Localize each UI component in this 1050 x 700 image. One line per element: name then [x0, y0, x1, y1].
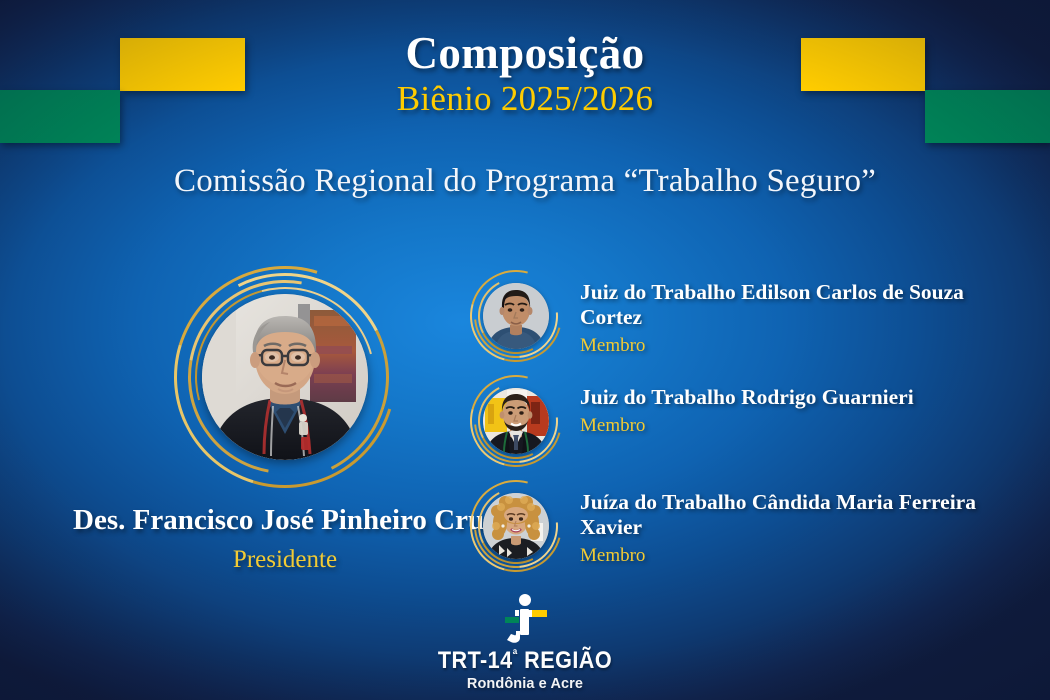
list-item: Juíza do Trabalho Cândida Maria Ferreira…: [470, 478, 1030, 583]
member-photo: [483, 283, 549, 349]
member-photo: [483, 493, 549, 559]
member-name: Juíza do Trabalho Cândida Maria Ferreira…: [580, 490, 1030, 540]
jt-running-figure-icon: [482, 593, 568, 645]
list-item: Juiz do Trabalho Rodrigo Guarnieri Membr…: [470, 373, 1030, 478]
president-name: Des. Francisco José Pinheiro Cruz: [70, 504, 500, 537]
president-avatar: [176, 268, 394, 486]
member-avatar: [470, 270, 562, 362]
page-subtitle: Biênio 2025/2026: [0, 79, 1050, 119]
logo-title: TRT-14ª REGIÃO: [53, 646, 998, 675]
member-name: Juiz do Trabalho Edilson Carlos de Souza…: [580, 280, 1030, 330]
member-text: Juiz do Trabalho Rodrigo Guarnieri Membr…: [562, 373, 914, 437]
list-item: Juiz do Trabalho Edilson Carlos de Souza…: [470, 268, 1030, 373]
member-text: Juíza do Trabalho Cândida Maria Ferreira…: [562, 478, 1030, 567]
header: Composição Biênio 2025/2026: [0, 30, 1050, 120]
member-role: Membro: [580, 545, 1030, 567]
composition-card: Composição Biênio 2025/2026 Comissão Reg…: [0, 0, 1050, 700]
program-name: Comissão Regional do Programa “Trabalho …: [0, 163, 1050, 200]
member-avatar: [470, 480, 562, 572]
logo-title-main: TRT-14: [438, 647, 513, 674]
member-role: Membro: [580, 415, 914, 437]
logo-title-tail: REGIÃO: [518, 647, 612, 674]
president-photo: [202, 294, 368, 460]
president-block: Des. Francisco José Pinheiro Cruz Presid…: [70, 268, 500, 574]
president-role: Presidente: [70, 546, 500, 574]
member-name: Juiz do Trabalho Rodrigo Guarnieri: [580, 385, 914, 410]
member-photo: [483, 388, 549, 454]
logo-subtitle: Rondônia e Acre: [0, 676, 1050, 692]
trt-logo: TRT-14ª REGIÃO Rondônia e Acre: [0, 593, 1050, 692]
members-list: Juiz do Trabalho Edilson Carlos de Souza…: [470, 268, 1030, 583]
member-avatar: [470, 375, 562, 467]
member-text: Juiz do Trabalho Edilson Carlos de Souza…: [562, 268, 1030, 357]
page-title: Composição: [0, 30, 1050, 77]
member-role: Membro: [580, 335, 1030, 357]
